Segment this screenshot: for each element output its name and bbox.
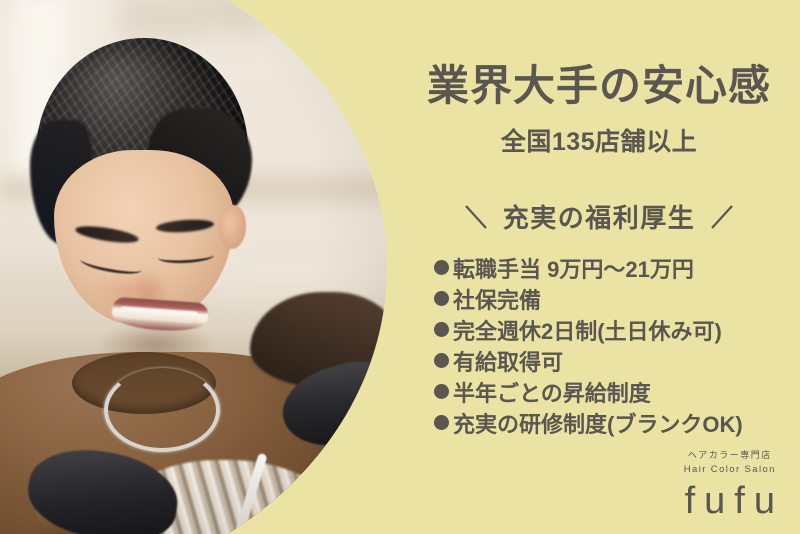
benefits-list: 転職手当 9万円〜21万円 社保完備 完全週休2日制(土日休み可) 有給取得可 … bbox=[434, 252, 800, 438]
benefit-label: 半年ごとの昇給制度 bbox=[453, 376, 651, 408]
benefit-label: 有給取得可 bbox=[453, 345, 563, 377]
subheadline: 全国135店舗以上 bbox=[398, 122, 800, 158]
brand-wordmark: fufu bbox=[676, 482, 784, 520]
recruitment-banner: 業界大手の安心感 全国135店舗以上 充実の福利厚生 転職手当 9万円〜21万円… bbox=[0, 0, 800, 534]
slash-left-icon bbox=[463, 202, 489, 232]
slash-right-icon bbox=[709, 202, 735, 232]
bullet-icon bbox=[434, 415, 449, 430]
section-title-label: 充実の福利厚生 bbox=[503, 198, 696, 235]
bullet-icon bbox=[434, 384, 449, 399]
content-column: 業界大手の安心感 全国135店舗以上 充実の福利厚生 転職手当 9万円〜21万円… bbox=[398, 0, 800, 534]
brand-tagline-en: Hair Color Salon bbox=[676, 462, 784, 477]
bullet-icon bbox=[434, 260, 449, 275]
benefit-label: 充実の研修制度(ブランクOK) bbox=[453, 407, 743, 439]
benefit-label: 社保完備 bbox=[453, 283, 541, 315]
hero-photo bbox=[0, 0, 390, 534]
section-title: 充実の福利厚生 bbox=[398, 198, 800, 235]
bullet-icon bbox=[434, 322, 449, 337]
bullet-icon bbox=[434, 291, 449, 306]
brand-tagline-jp: ヘアカラー専門店 bbox=[676, 449, 784, 462]
benefit-label: 完全週休2日制(土日休み可) bbox=[453, 314, 722, 346]
list-item: 有給取得可 bbox=[434, 345, 800, 376]
brand-logo: ヘアカラー専門店 Hair Color Salon fufu bbox=[676, 449, 784, 520]
headline: 業界大手の安心感 bbox=[398, 52, 800, 113]
list-item: 充実の研修制度(ブランクOK) bbox=[434, 407, 800, 438]
photo-vignette bbox=[0, 0, 390, 534]
bullet-icon bbox=[434, 353, 449, 368]
list-item: 完全週休2日制(土日休み可) bbox=[434, 314, 800, 345]
list-item: 転職手当 9万円〜21万円 bbox=[434, 252, 800, 283]
list-item: 社保完備 bbox=[434, 283, 800, 314]
benefit-label: 転職手当 9万円〜21万円 bbox=[453, 252, 694, 284]
list-item: 半年ごとの昇給制度 bbox=[434, 376, 800, 407]
